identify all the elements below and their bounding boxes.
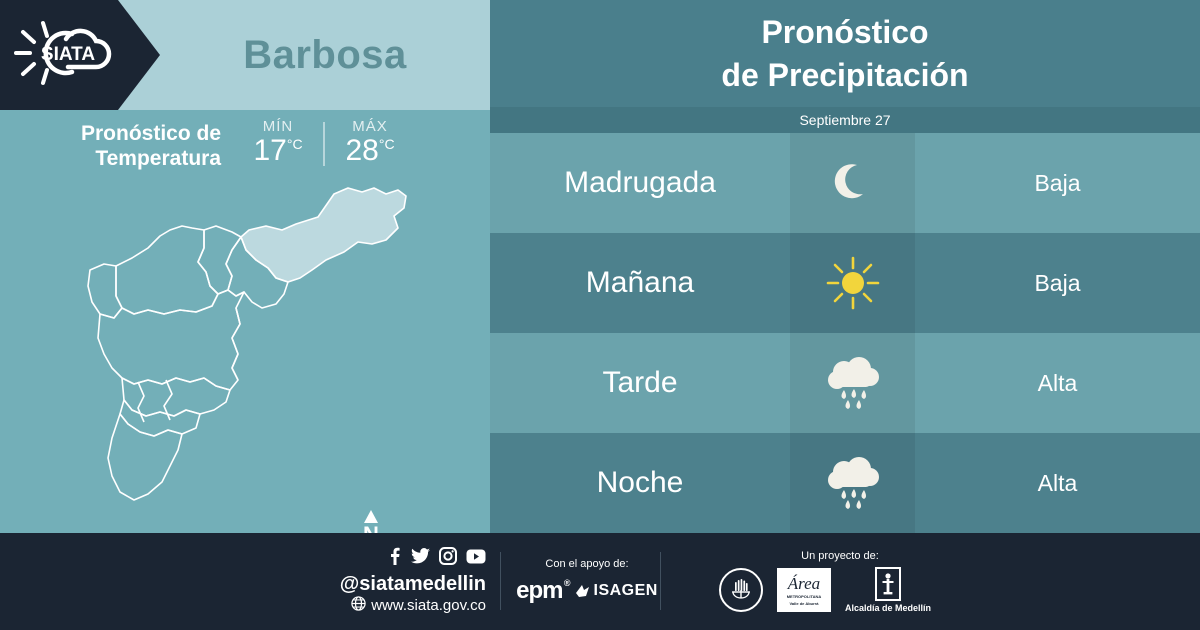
precipitation-title-line1: Pronóstico [721,11,968,53]
social-handle[interactable]: @siatamedellin [340,573,486,596]
map-region-caldas [108,414,182,500]
area-sub1: METROPOLITANA [787,594,822,599]
temperature-summary: Pronóstico de Temperatura MÍN 17°C MÁX 2… [0,118,490,190]
period-label: Madrugada [490,133,790,233]
social-icons [386,547,486,570]
instagram-icon[interactable] [439,547,457,570]
globe-icon [351,596,366,615]
temperature-title-line2: Temperatura [81,147,221,172]
period-label: Mañana [490,233,790,333]
probability-label: Baja [915,233,1200,333]
area-sub2: Valle de Aburrá [789,601,818,606]
twitter-icon[interactable] [411,547,430,570]
map-region-west-sliver [88,264,122,318]
max-value: 28°C [345,135,394,167]
universidad-antioquia-seal-icon [719,568,763,612]
map-region-sabaneta [120,400,200,436]
weather-forecast-card: SIATA Barbosa Pronóstico de Temperatura … [0,0,1200,630]
temperature-values: MÍN 17°C MÁX 28°C [239,118,409,167]
support-block: Con el apoyo de: epm® ISAGEN [512,533,662,630]
footer-divider-1 [500,552,501,610]
sun-cloud-icon: SIATA [10,18,130,93]
precipitation-panel: Pronóstico de Precipitación Septiembre 2… [490,0,1200,533]
forecast-rows: Madrugada Baja Mañana [490,133,1200,533]
forecast-date: Septiembre 27 [490,107,1200,133]
rain-cloud-icon [790,333,915,433]
moon-icon [790,133,915,233]
temperature-title-line1: Pronóstico de [81,122,221,147]
min-unit: °C [287,136,303,152]
aburra-valley-map: N [86,182,436,527]
siata-logo-badge: SIATA [0,0,160,110]
precipitation-header: Pronóstico de Precipitación [490,0,1200,107]
alcaldia-medellin-logo: Alcaldía de Medellín [845,567,931,613]
alcaldia-mark-icon [875,567,901,601]
max-unit: °C [379,136,395,152]
forecast-row-madrugada: Madrugada Baja [490,133,1200,233]
project-block: Un proyecto de: [700,533,950,630]
rain-cloud-icon [790,433,915,533]
website-row[interactable]: www.siata.gov.co [351,596,486,615]
project-logos: Área METROPOLITANA Valle de Aburrá [719,567,931,613]
youtube-icon[interactable] [466,549,486,569]
forecast-row-manana: Mañana [490,233,1200,333]
alcaldia-text: Alcaldía de Medellín [845,603,931,613]
forecast-row-noche: Noche [490,433,1200,533]
min-value: 17°C [253,135,302,167]
support-brands: epm® ISAGEN [516,577,658,605]
facebook-icon[interactable] [386,547,402,570]
social-block: @siatamedellin www.siata.gov.co [300,533,500,630]
left-header: SIATA Barbosa [0,0,490,110]
temperature-title: Pronóstico de Temperatura [81,118,221,172]
temperature-min: MÍN 17°C [239,118,317,167]
city-name: Barbosa [160,0,490,110]
period-label: Tarde [490,333,790,433]
support-caption: Con el apoyo de: [545,558,628,570]
project-caption: Un proyecto de: [801,550,879,562]
sun-icon [790,233,915,333]
min-label: MÍN [263,118,294,135]
map-region-bello [116,226,218,314]
forecast-row-tarde: Tarde [490,333,1200,433]
map-inner-line-2 [138,382,144,422]
precipitation-title-line2: de Precipitación [721,54,968,96]
footer: @siatamedellin www.siata.gov.co Con el a… [0,533,1200,630]
map-region-barbosa [241,188,406,282]
isagen-logo: ISAGEN [575,582,658,600]
map-inner-line-1 [232,308,240,380]
period-label: Noche [490,433,790,533]
siata-logo-text: SIATA [41,44,95,65]
probability-label: Alta [915,333,1200,433]
temperature-max: MÁX 28°C [331,118,409,167]
isagen-mark [575,584,591,598]
max-label: MÁX [352,118,388,135]
temperature-divider [323,122,325,166]
area-script: Área [788,575,820,592]
probability-label: Baja [915,133,1200,233]
website-url: www.siata.gov.co [371,597,486,614]
footer-divider-2 [660,552,661,610]
probability-label: Alta [915,433,1200,533]
epm-logo: epm® [516,577,562,605]
area-metropolitana-logo: Área METROPOLITANA Valle de Aburrá [777,568,831,612]
temperature-panel: SIATA Barbosa Pronóstico de Temperatura … [0,0,490,533]
precipitation-title: Pronóstico de Precipitación [721,11,968,95]
